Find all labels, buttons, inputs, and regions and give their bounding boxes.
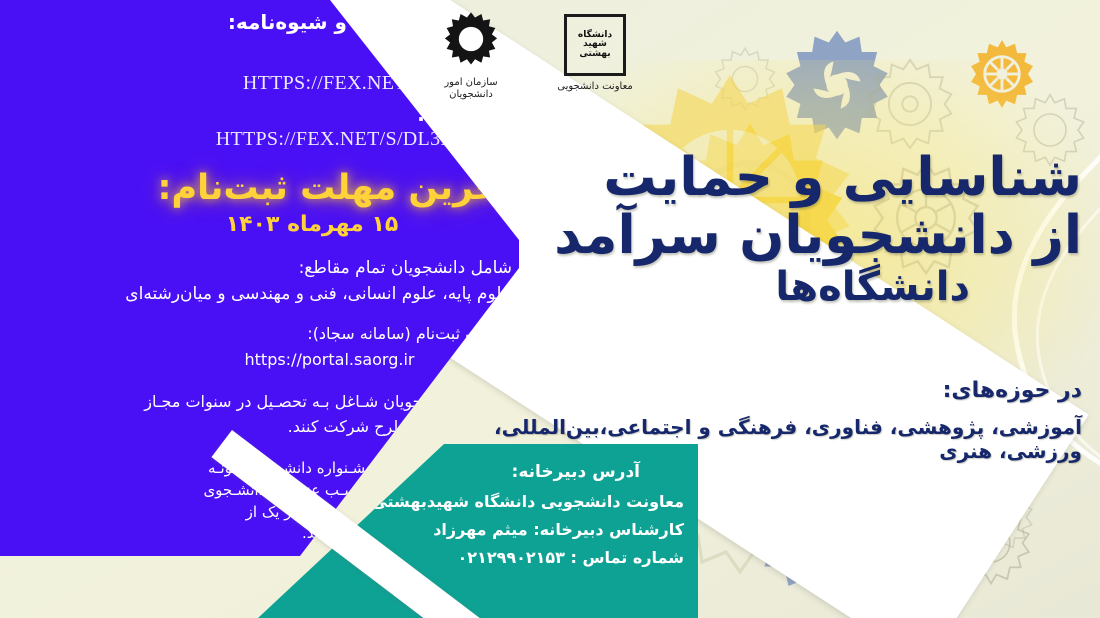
gear-icon-outline-a <box>862 56 958 152</box>
gear-icon-amber-bottom <box>868 550 932 614</box>
organization-caption-line2: دانشجویان <box>415 89 527 100</box>
eligibility-line-2: علوم پایه، علوم انسانی، فنی و مهندسی و م… <box>125 284 512 304</box>
organization-caption-line1: سازمان امور <box>415 77 527 88</box>
gear-icon-outline-f <box>884 498 962 576</box>
secretariat-line-3: شماره تماس : ۰۲۱۲۹۹۰۲۱۵۳ <box>458 548 684 567</box>
secretariat-line-2: کارشناس دبیرخانه: میثم مهرزاد <box>433 520 684 539</box>
gear-icon-outline-e <box>946 498 1036 588</box>
secretariat-heading: آدرس دبیرخانه: <box>512 462 640 482</box>
bullet-1-line-2[interactable]: https://portal.saorg.ir <box>109 348 514 371</box>
deadline-heading: آخرین مهلت ثبت‌نام: <box>157 168 512 208</box>
bullet-1-line-1: لینک ثبت‌نام (سامانه سجاد): <box>307 324 494 343</box>
gear-icon-outline-d <box>710 44 780 114</box>
headline-line-3: دانشگاه‌ها <box>522 266 970 308</box>
gear-icon-blue-swirl <box>778 26 896 144</box>
check-circle-icon <box>499 326 514 341</box>
poster-canvas: شناسایی و حمایت از دانشجویان سرآمد دانشگ… <box>0 0 1100 618</box>
university-seal-text: دانشگاه شهید بهشتی <box>567 31 623 59</box>
gear-icon-outline-g <box>960 478 1038 556</box>
deadline-date: ۱۵ مهرماه ۱۴۰۳ <box>112 212 512 237</box>
regulation-doc-url[interactable]: HTTPS://FEX.NET/S/DL3PFV4 <box>192 128 512 151</box>
headline-line-1: شناسایی و حمایت <box>522 150 1082 206</box>
poster-headline: شناسایی و حمایت از دانشجویان سرآمد دانشگ… <box>522 150 1082 309</box>
headline-line-2: از دانشجویان سرآمد <box>522 208 1082 264</box>
gear-icon-amber-small <box>966 38 1038 110</box>
secretariat-line-1: معاونت دانشجویی دانشگاه شهیدبهشتی <box>371 492 684 511</box>
university-seal-icon: دانشگاه شهید بهشتی <box>564 14 626 76</box>
logo-organization: سازمان امور دانشجویان <box>415 10 527 100</box>
fields-label: در حوزه‌های: <box>442 378 1082 403</box>
gear-icon-blue-bottom <box>742 448 892 598</box>
organization-starburst-icon <box>442 10 500 68</box>
logo-university: دانشگاه شهید بهشتی معاونت دانشجویی <box>540 14 650 92</box>
bullet-item-1: لینک ثبت‌نام (سامانه سجاد): https://port… <box>109 322 514 371</box>
university-caption: معاونت دانشجویی <box>540 81 650 92</box>
eligibility-line-1: شامل دانشجویان تمام مقاطع: <box>299 258 512 278</box>
logo-row: دانشگاه شهید بهشتی معاونت دانشجویی سازما… <box>415 6 650 114</box>
